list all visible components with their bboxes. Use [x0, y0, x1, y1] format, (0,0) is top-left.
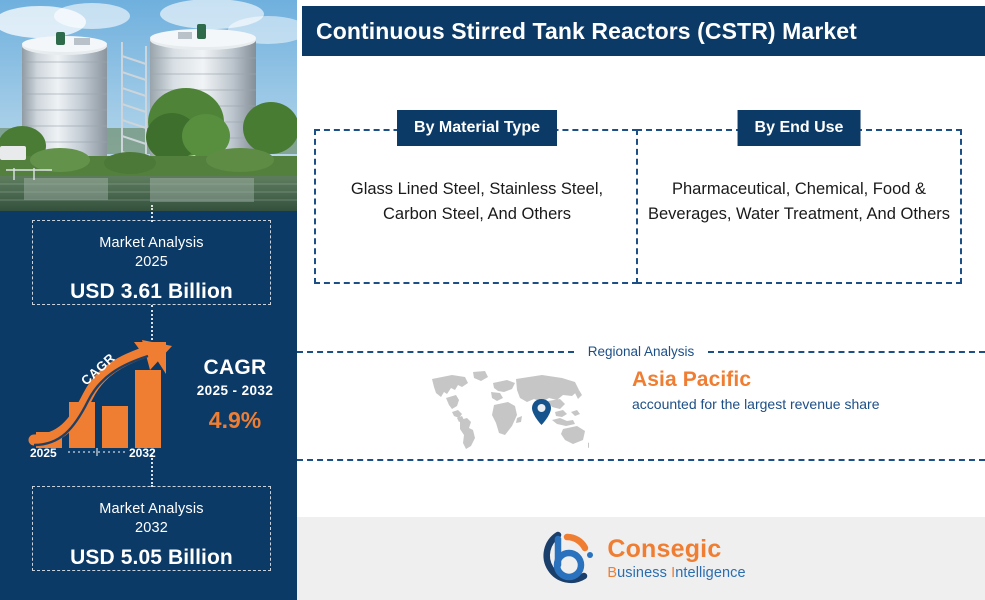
cagr-title: CAGR	[176, 356, 294, 380]
right-content-area: Continuous Stirred Tank Reactors (CSTR) …	[297, 0, 985, 600]
regional-copy: Asia Pacific accounted for the largest r…	[632, 368, 962, 413]
dash-rule-right	[708, 351, 985, 353]
connector-line-bottom	[151, 455, 153, 487]
market-2025-label-year: Market Analysis 2025	[33, 234, 270, 272]
left-panel: Market Analysis 2025 USD 3.61 Billion	[0, 0, 297, 600]
segment-chip-material-type: By Material Type	[397, 110, 557, 146]
market-2025-year: 2025	[135, 254, 168, 270]
title-bar: Continuous Stirred Tank Reactors (CSTR) …	[302, 6, 985, 56]
connector-line-middle	[151, 305, 153, 340]
brand-tagline-ntelligence: ntelligence	[675, 565, 745, 581]
brand-words: Consegic Business Intelligence	[607, 537, 745, 581]
cagr-block: CAGR 2025 2032 CAGR 2025 - 2032 4.9%	[0, 340, 297, 460]
cagr-text-group: CAGR 2025 - 2032 4.9%	[176, 356, 294, 434]
cagr-rate: 4.9%	[176, 407, 294, 434]
market-2032-year: 2032	[135, 520, 168, 536]
segment-box-end-use: By End Use Pharmaceutical, Chemical, Foo…	[636, 129, 962, 284]
segment-chip-end-use: By End Use	[738, 110, 861, 146]
infographic-canvas: Market Analysis 2025 USD 3.61 Billion	[0, 0, 985, 600]
cagr-period: 2025 - 2032	[176, 383, 294, 398]
market-analysis-2032-box: Market Analysis 2032 USD 5.05 Billion	[32, 486, 271, 571]
segment-box-material-type: By Material Type Glass Lined Steel, Stai…	[314, 129, 638, 284]
segment-body-material-type: Glass Lined Steel, Stainless Steel, Carb…	[324, 177, 630, 227]
regional-divider-top: Regional Analysis	[297, 344, 985, 359]
regional-divider-bottom	[297, 459, 985, 461]
segment-body-end-use: Pharmaceutical, Chemical, Food & Beverag…	[646, 177, 952, 227]
market-analysis-2025-box: Market Analysis 2025 USD 3.61 Billion	[32, 220, 271, 305]
world-map-graphic	[429, 370, 589, 454]
regional-analysis-heading: Regional Analysis	[574, 344, 709, 359]
regional-analysis-section: Regional Analysis	[297, 328, 985, 463]
market-2032-label: Market Analysis	[99, 501, 204, 517]
market-2025-label: Market Analysis	[99, 235, 204, 251]
page-title: Continuous Stirred Tank Reactors (CSTR) …	[316, 18, 857, 45]
brand-tagline-usiness: usiness	[617, 565, 671, 581]
market-2032-value: USD 5.05 Billion	[33, 546, 270, 570]
hero-photo	[0, 0, 297, 211]
region-name: Asia Pacific	[632, 368, 962, 392]
cagr-axis-start-label: 2025	[30, 446, 57, 458]
map-pin-icon	[532, 399, 551, 425]
brand-lockup: Consegic Business Intelligence	[536, 530, 745, 588]
brand-tagline-b: B	[607, 565, 617, 581]
footer-bar: Consegic Business Intelligence	[297, 517, 985, 600]
growth-chart-icon: CAGR 2025 2032	[26, 340, 176, 458]
region-description: accounted for the largest revenue share	[632, 395, 962, 413]
consegic-b-logo-icon	[536, 530, 598, 588]
market-2025-value: USD 3.61 Billion	[33, 280, 270, 304]
market-2032-label-year: Market Analysis 2032	[33, 500, 270, 538]
brand-name: Consegic	[607, 537, 745, 562]
brand-tagline: Business Intelligence	[607, 566, 745, 581]
dash-rule-left	[297, 351, 574, 353]
segments-group: By Material Type Glass Lined Steel, Stai…	[314, 129, 962, 284]
